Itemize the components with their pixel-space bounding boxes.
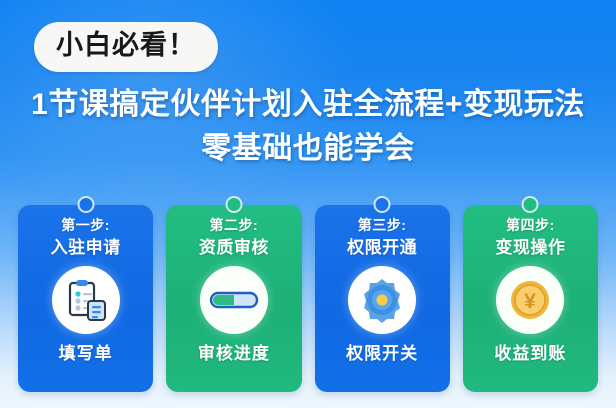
step-card-4[interactable]: 第四步: 变现操作 ¥ 收益到账 — [463, 205, 598, 392]
badge-row: 小白必看！ — [0, 22, 616, 72]
svg-text:¥: ¥ — [525, 290, 537, 313]
headline-line-1: 1节课搞定伙伴计划入驻全流程+变现玩法 — [31, 88, 585, 121]
progress-bar-icon — [208, 275, 260, 325]
card-notch-icon — [77, 196, 94, 213]
headline-line-2: 零基础也能学会 — [0, 130, 616, 168]
step-title: 变现操作 — [495, 239, 565, 256]
card-footer-label: 填写单 — [59, 345, 113, 362]
highlight-badge: 小白必看！ — [34, 22, 218, 72]
card-footer-label: 权限开关 — [346, 345, 418, 362]
step-label: 第二步: — [210, 218, 259, 232]
card-notch-icon — [374, 196, 391, 213]
step-card-2[interactable]: 第二步: 资质审核 审核进度 — [166, 205, 301, 392]
gear-switch-icon — [357, 275, 407, 325]
poster-headline: 1节课搞定伙伴计划入驻全流程+变现玩法 零基础也能学会 — [0, 86, 616, 169]
step-card-3[interactable]: 第三步: 权限开通 权限开关 — [315, 205, 450, 392]
step-icon-circle: ¥ — [496, 266, 564, 334]
card-notch-icon — [522, 196, 539, 213]
clipboard-form-icon — [61, 275, 111, 325]
step-title: 入驻申请 — [51, 239, 121, 256]
card-footer-label: 审核进度 — [198, 345, 270, 362]
yen-coin-icon: ¥ — [508, 278, 552, 322]
step-label: 第四步: — [506, 218, 555, 232]
step-card-list: 第一步: 入驻申请 填写单 — [18, 205, 598, 392]
promo-poster: 小白必看！ 1节课搞定伙伴计划入驻全流程+变现玩法 零基础也能学会 第一步: 入… — [0, 0, 616, 408]
step-icon-circle — [200, 266, 268, 334]
step-icon-circle — [348, 266, 416, 334]
step-title: 权限开通 — [347, 239, 417, 256]
step-card-1[interactable]: 第一步: 入驻申请 填写单 — [18, 205, 153, 392]
step-label: 第一步: — [61, 218, 110, 232]
card-footer-label: 收益到账 — [494, 345, 566, 362]
poster-header: 小白必看！ 1节课搞定伙伴计划入驻全流程+变现玩法 零基础也能学会 — [0, 0, 616, 169]
step-icon-circle — [52, 266, 120, 334]
step-label: 第三步: — [358, 218, 407, 232]
card-notch-icon — [225, 196, 242, 213]
step-title: 资质审核 — [199, 239, 269, 256]
